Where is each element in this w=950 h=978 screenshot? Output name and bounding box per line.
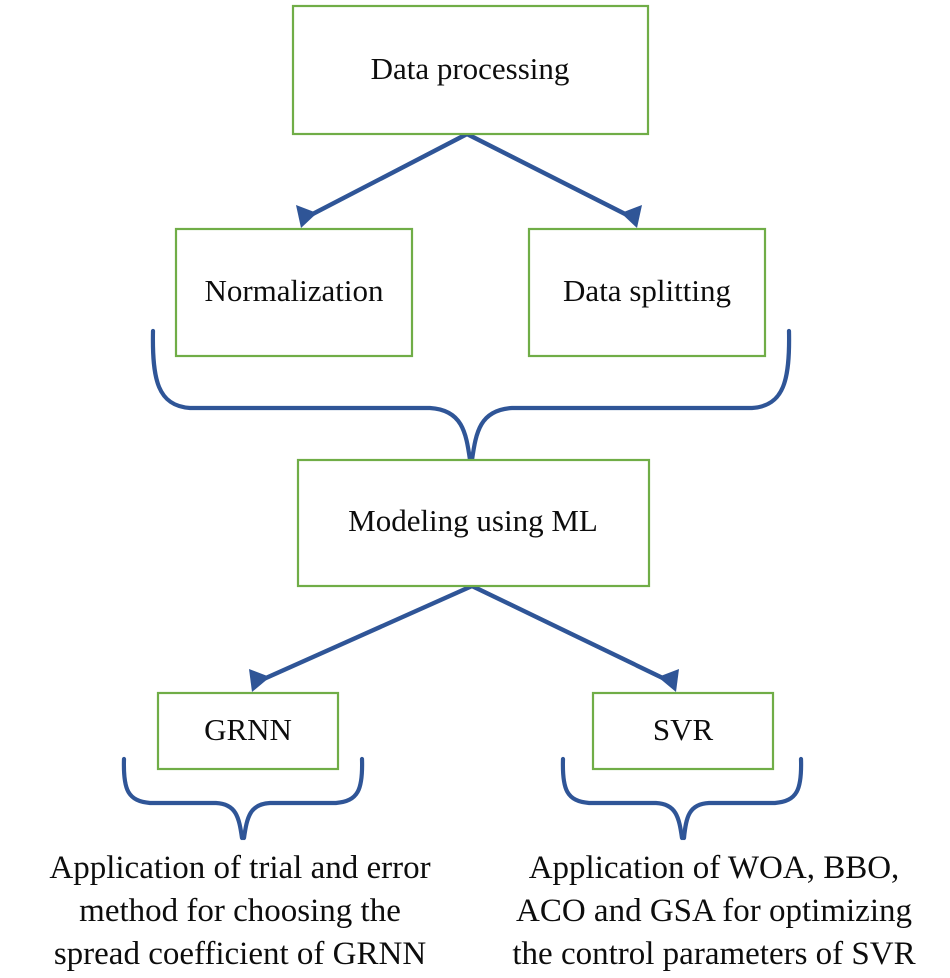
grnn-caption-line-2: method for choosing the [79, 893, 401, 929]
node-svr[interactable]: SVR [593, 693, 773, 769]
grnn-label: GRNN [204, 712, 292, 747]
arrow-processing-to-normalization [296, 134, 467, 228]
svr-caption-line-3: the control parameters of SVR [512, 936, 915, 972]
node-data-splitting[interactable]: Data splitting [529, 229, 765, 356]
flowchart-canvas: Data processing Normalization Data split… [0, 0, 950, 978]
grnn-caption: Application of trial and error method fo… [49, 850, 430, 972]
node-modeling-using-ml[interactable]: Modeling using ML [298, 460, 649, 586]
node-data-processing[interactable]: Data processing [293, 6, 648, 134]
data-splitting-label: Data splitting [563, 273, 731, 308]
grnn-caption-line-1: Application of trial and error [49, 850, 430, 886]
arrow-processing-to-splitting [467, 134, 642, 228]
brace-svr-to-caption [563, 759, 801, 838]
node-grnn[interactable]: GRNN [158, 693, 338, 769]
svr-caption-line-1: Application of WOA, BBO, [529, 850, 900, 886]
arrow-modeling-to-grnn [249, 586, 472, 692]
svr-caption-line-2: ACO and GSA for optimizing [516, 893, 912, 929]
svr-caption: Application of WOA, BBO, ACO and GSA for… [512, 850, 915, 972]
node-normalization[interactable]: Normalization [176, 229, 412, 356]
data-processing-label: Data processing [371, 51, 570, 86]
modeling-using-ml-label: Modeling using ML [348, 503, 598, 538]
flowchart-diagram: Data processing Normalization Data split… [0, 0, 950, 978]
svr-label: SVR [653, 712, 714, 747]
brace-grnn-to-caption [124, 759, 362, 838]
arrow-modeling-to-svr [472, 586, 679, 692]
grnn-caption-line-3: spread coefficient of GRNN [54, 936, 427, 972]
normalization-label: Normalization [204, 273, 384, 308]
